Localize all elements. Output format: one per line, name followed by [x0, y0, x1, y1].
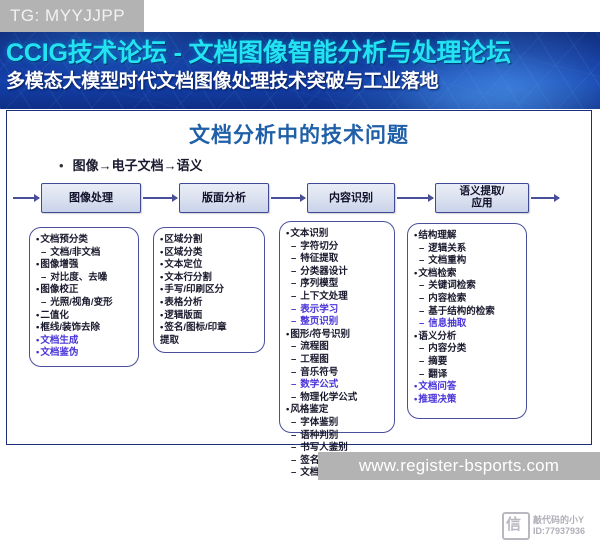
arrow-out-of-stage-4	[531, 197, 559, 199]
detail-item: 工程图	[286, 354, 389, 367]
stage-box-image-processing[interactable]: 图像处理	[41, 183, 141, 213]
detail-item: 信息抽取	[414, 318, 521, 331]
watermark-author: 敲代码的小Y	[533, 515, 585, 526]
detail-box-content-recognition[interactable]: 文本识别字符切分特征提取分类器设计序列模型上下文处理表示学习整页识别图形/符号识…	[279, 221, 395, 433]
detail-item: 框线/装饰去除	[36, 322, 133, 335]
detail-item: 提取	[160, 335, 259, 348]
detail-item: 文档重构	[414, 255, 521, 268]
stage-box-content-recognition[interactable]: 内容识别	[307, 183, 395, 213]
detail-item: 区域分割	[160, 234, 259, 247]
detail-item: 逻辑版面	[160, 310, 259, 323]
stage-box-semantic-extraction[interactable]: 语义提取/ 应用	[435, 183, 529, 213]
detail-item: 流程图	[286, 341, 389, 354]
detail-item: 摘要	[414, 356, 521, 369]
detail-box-layout-analysis[interactable]: 区域分割区域分类文本定位文本行分割手写/印刷区分表格分析逻辑版面签名/图标/印章…	[153, 227, 265, 353]
detail-item: 光照/视角/变形	[36, 297, 133, 310]
detail-item: 手写/印刷区分	[160, 284, 259, 297]
detail-item: 对比度、去噪	[36, 272, 133, 285]
detail-item: 文档预分类	[36, 234, 133, 247]
detail-item: 结构理解	[414, 230, 521, 243]
site-url-banner: www.register-bsports.com	[318, 452, 600, 480]
stage-label: 图像处理	[69, 192, 113, 204]
bullet-marker: •	[59, 158, 64, 173]
arrow-stage-3-to-4	[397, 197, 433, 199]
watermark-text: 敲代码的小Y ID:77937936	[533, 515, 585, 537]
detail-item: 分类器设计	[286, 266, 389, 279]
detail-item: 关键词检索	[414, 280, 521, 293]
banner-subtitle: 多模态大模型时代文档图像处理技术突破与工业落地	[6, 66, 438, 93]
pipeline-flow: 图像处理 版面分析 内容识别 语义提取/ 应用	[7, 183, 593, 217]
conference-banner: CCIG技术论坛 - 文档图像智能分析与处理论坛 多模态大模型时代文档图像处理技…	[0, 32, 600, 109]
detail-list: 文档预分类文档/非文档图像增强对比度、去噪图像校正光照/视角/变形二值化框线/装…	[36, 234, 133, 360]
detail-item: 区域分类	[160, 247, 259, 260]
stage-label: 版面分析	[202, 192, 246, 204]
detail-item: 图像校正	[36, 284, 133, 297]
slide-title: 文档分析中的技术问题	[7, 119, 591, 149]
detail-item: 数学公式	[286, 379, 389, 392]
detail-item: 字体鉴别	[286, 417, 389, 430]
detail-list: 区域分割区域分类文本定位文本行分割手写/印刷区分表格分析逻辑版面签名/图标/印章…	[160, 234, 259, 347]
banner-title: CCIG技术论坛 - 文档图像智能分析与处理论坛	[6, 33, 511, 69]
detail-item: 风格鉴定	[286, 404, 389, 417]
detail-item: 内容检索	[414, 293, 521, 306]
detail-item: 图像增强	[36, 259, 133, 272]
detail-item: 文档生成	[36, 335, 133, 348]
stage-label: 内容识别	[329, 192, 373, 204]
bullet-text: 图像→电子文档→语义	[73, 158, 203, 173]
detail-item: 文档问答	[414, 381, 521, 394]
detail-item: 二值化	[36, 310, 133, 323]
detail-list: 结构理解逻辑关系文档重构文档检索关键词检索内容检索基于结构的检索信息抽取语义分析…	[414, 230, 521, 406]
detail-item: 特征提取	[286, 253, 389, 266]
arrow-into-stage-1	[13, 197, 39, 199]
stage-box-layout-analysis[interactable]: 版面分析	[179, 183, 269, 213]
detail-item: 文本识别	[286, 228, 389, 241]
author-watermark: 敲代码的小Y ID:77937936	[502, 509, 600, 543]
detail-box-image-processing[interactable]: 文档预分类文档/非文档图像增强对比度、去噪图像校正光照/视角/变形二值化框线/装…	[29, 227, 139, 367]
stage-label: 语义提取/ 应用	[460, 186, 505, 210]
arrow-stage-1-to-2	[143, 197, 177, 199]
detail-item: 表格分析	[160, 297, 259, 310]
detail-box-semantic-extraction[interactable]: 结构理解逻辑关系文档重构文档检索关键词检索内容检索基于结构的检索信息抽取语义分析…	[407, 223, 527, 419]
detail-item: 文档检索	[414, 268, 521, 281]
detail-item: 上下文处理	[286, 291, 389, 304]
tg-tag-overlay: TG: MYYJJPP	[0, 0, 144, 32]
detail-item: 内容分类	[414, 343, 521, 356]
detail-item: 图形/符号识别	[286, 329, 389, 342]
detail-item: 字符切分	[286, 241, 389, 254]
detail-item: 文本行分割	[160, 272, 259, 285]
slide-bullet-line: •图像→电子文档→语义	[59, 155, 203, 174]
detail-item: 表示学习	[286, 304, 389, 317]
detail-item: 逻辑关系	[414, 243, 521, 256]
detail-item: 文档鉴伪	[36, 347, 133, 360]
detail-item: 语义分析	[414, 331, 521, 344]
detail-item: 序列模型	[286, 278, 389, 291]
detail-list: 文本识别字符切分特征提取分类器设计序列模型上下文处理表示学习整页识别图形/符号识…	[286, 228, 389, 480]
detail-item: 推理决策	[414, 394, 521, 407]
slide-canvas: 文档分析中的技术问题 •图像→电子文档→语义 图像处理 版面分析 内容识别 语义…	[6, 110, 592, 445]
detail-item: 文本定位	[160, 259, 259, 272]
watermark-id: ID:77937936	[533, 526, 585, 537]
detail-item: 语种判别	[286, 430, 389, 443]
detail-item: 文档/非文档	[36, 247, 133, 260]
detail-item: 整页识别	[286, 316, 389, 329]
detail-item: 基于结构的检索	[414, 306, 521, 319]
detail-item: 签名/图标/印章	[160, 322, 259, 335]
detail-item: 翻译	[414, 369, 521, 382]
detail-item: 物理化学公式	[286, 392, 389, 405]
detail-item: 音乐符号	[286, 367, 389, 380]
watermark-logo-icon	[502, 512, 530, 540]
arrow-stage-2-to-3	[271, 197, 305, 199]
